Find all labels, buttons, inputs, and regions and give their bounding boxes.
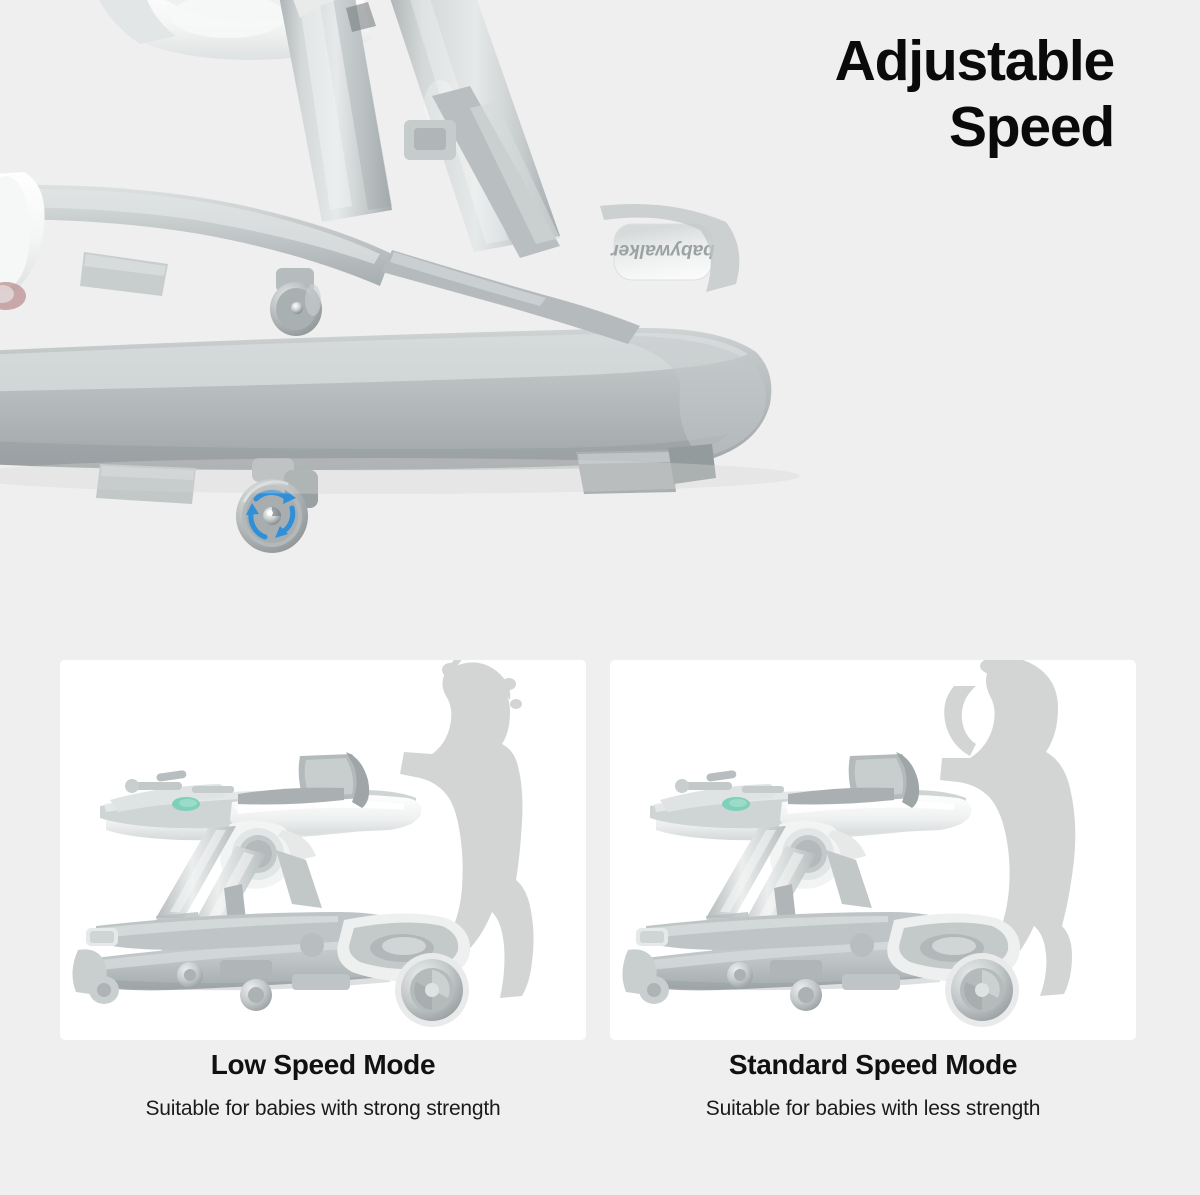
mode-subtitle-low-speed: Suitable for babies with strong strength (60, 1096, 586, 1121)
mode-cards-row (60, 660, 1136, 1040)
walker-front-wheel (395, 953, 469, 1027)
page-title: Adjustable Speed (835, 28, 1114, 160)
caption-standard-speed: Standard Speed Mode Suitable for babies … (610, 1048, 1136, 1158)
caption-low-speed: Low Speed Mode Suitable for babies with … (60, 1048, 586, 1158)
walker-front-wheel (945, 953, 1019, 1027)
standard-speed-illustration (610, 660, 1136, 1040)
mode-title-low-speed: Low Speed Mode (60, 1048, 586, 1082)
hero-hinge-bracket (404, 120, 456, 160)
low-speed-illustration (60, 660, 586, 1040)
mode-card-low-speed[interactable] (60, 660, 586, 1040)
product-feature-graphic: babywalker Adjustable Speed (0, 0, 1200, 1195)
mode-captions-row: Low Speed Mode Suitable for babies with … (60, 1048, 1136, 1158)
mode-title-standard-speed: Standard Speed Mode (610, 1048, 1136, 1082)
brand-badge: babywalker (610, 224, 715, 280)
mode-subtitle-standard-speed: Suitable for babies with less strength (610, 1096, 1136, 1121)
mode-card-standard-speed[interactable] (610, 660, 1136, 1040)
svg-text:babywalker: babywalker (610, 240, 715, 261)
hero-base-bar (0, 328, 771, 470)
